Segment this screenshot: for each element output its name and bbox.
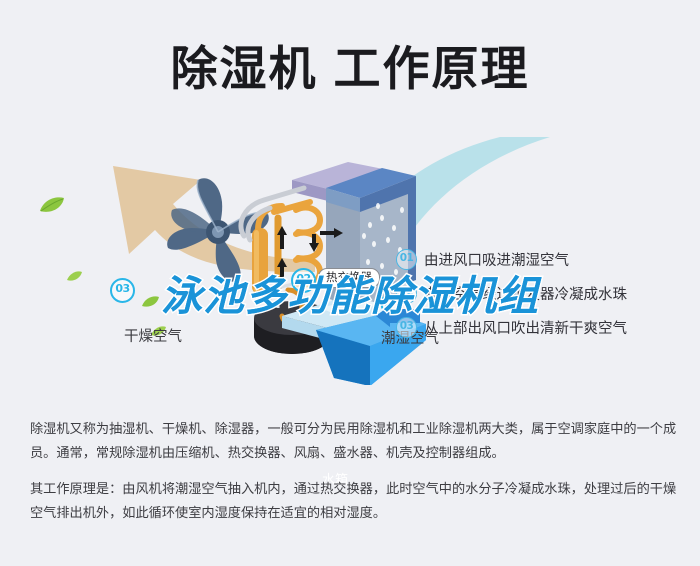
dry-air-label: 干燥空气 bbox=[124, 325, 182, 346]
description-paragraph-1: 除湿机又称为抽湿机、干燥机、除湿器，一般可分为民用除湿机和工业除湿机两大类，属于… bbox=[30, 418, 678, 466]
leaf-icon bbox=[38, 195, 66, 215]
page-title: 除湿机工作原理 bbox=[0, 30, 700, 99]
page-root: 除湿机工作原理 bbox=[0, 0, 700, 566]
title-part-one: 除湿机 bbox=[171, 42, 318, 97]
title-part-two: 工作原理 bbox=[334, 42, 530, 97]
watermark-text: 泳池多功能除湿机组 bbox=[0, 262, 700, 322]
description-paragraph-2: 其工作原理是：由风机将潮湿空气抽入机内，通过热交换器，此时空气中的水分子冷凝成水… bbox=[30, 478, 678, 526]
